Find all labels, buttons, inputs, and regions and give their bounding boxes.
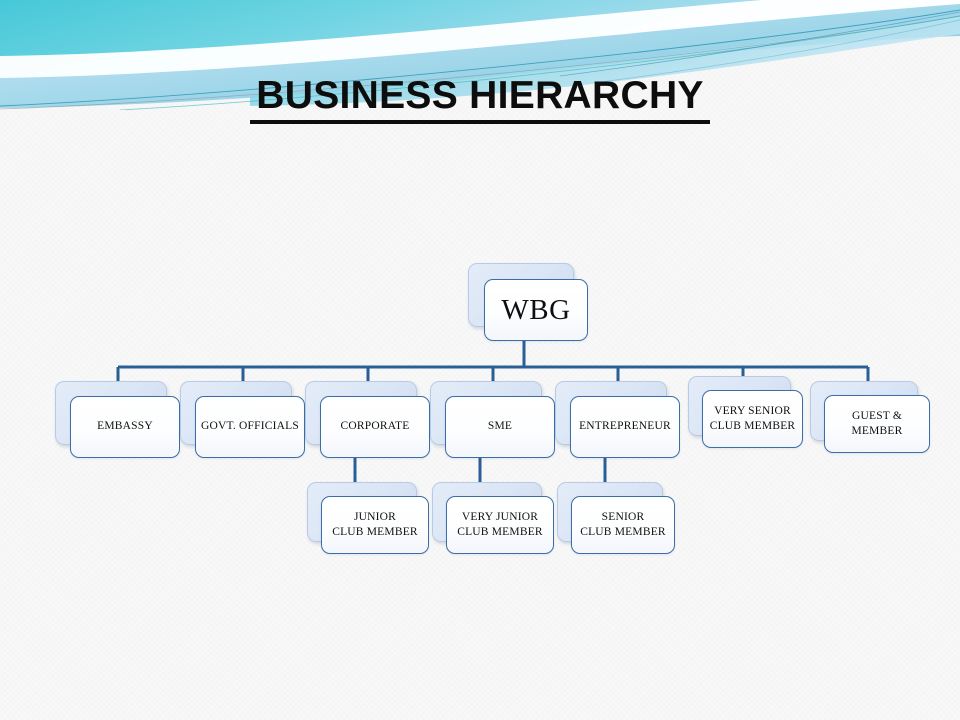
node-front-box: SENIOR CLUB MEMBER: [571, 496, 675, 554]
org-node-label: CORPORATE: [337, 419, 414, 434]
page-title: BUSINESS HIERARCHY: [250, 76, 709, 124]
org-node-entrepreneur[interactable]: ENTREPRENEUR: [555, 381, 680, 458]
org-node-label: GOVT. OFFICIALS: [197, 419, 303, 434]
org-node-sme[interactable]: SME: [430, 381, 555, 458]
org-node-senior-club-member[interactable]: SENIOR CLUB MEMBER: [557, 482, 675, 554]
node-front-box: VERY SENIOR CLUB MEMBER: [702, 390, 803, 448]
org-node-label: GUEST & MEMBER: [825, 409, 929, 439]
org-node-label-line2: CLUB MEMBER: [328, 525, 422, 540]
node-front-box: EMBASSY: [70, 396, 180, 458]
org-node-label-line1: SENIOR: [598, 510, 649, 525]
org-node-label-line2: CLUB MEMBER: [453, 525, 547, 540]
org-node-corporate[interactable]: CORPORATE: [305, 381, 430, 458]
wave-hairline-5: [600, 20, 960, 82]
title-container: BUSINESS HIERARCHY: [0, 76, 960, 124]
slide-canvas: BUSINESS HIERARCHY WBG: [0, 0, 960, 720]
org-node-junior-club-member[interactable]: JUNIOR CLUB MEMBER: [307, 482, 429, 554]
org-node-label-line2: CLUB MEMBER: [706, 419, 800, 434]
wave-hairline-4: [560, 12, 960, 76]
node-front-box: CORPORATE: [320, 396, 430, 458]
org-node-very-senior-club-member[interactable]: VERY SENIOR CLUB MEMBER: [688, 376, 803, 448]
org-node-label: EMBASSY: [93, 419, 157, 434]
org-node-label: SME: [484, 419, 516, 434]
org-node-very-junior-club-member[interactable]: VERY JUNIOR CLUB MEMBER: [432, 482, 554, 554]
node-front-box: GUEST & MEMBER: [824, 395, 930, 453]
org-node-embassy[interactable]: EMBASSY: [55, 381, 180, 458]
org-node-label: WBG: [497, 291, 574, 329]
org-node-wbg[interactable]: WBG: [468, 263, 588, 341]
org-node-guest-and-member[interactable]: GUEST & MEMBER: [810, 381, 930, 453]
org-node-label-line1: JUNIOR: [350, 510, 400, 525]
node-front-box: WBG: [484, 279, 588, 341]
node-front-box: JUNIOR CLUB MEMBER: [321, 496, 429, 554]
org-node-label-line1: VERY SENIOR: [710, 404, 795, 419]
org-node-label: ENTREPRENEUR: [575, 419, 675, 434]
org-node-label-line2: CLUB MEMBER: [576, 525, 670, 540]
org-node-govt-officials[interactable]: GOVT. OFFICIALS: [180, 381, 305, 458]
node-front-box: GOVT. OFFICIALS: [195, 396, 305, 458]
node-front-box: VERY JUNIOR CLUB MEMBER: [446, 496, 554, 554]
node-front-box: SME: [445, 396, 555, 458]
org-node-label-line1: VERY JUNIOR: [458, 510, 542, 525]
node-front-box: ENTREPRENEUR: [570, 396, 680, 458]
